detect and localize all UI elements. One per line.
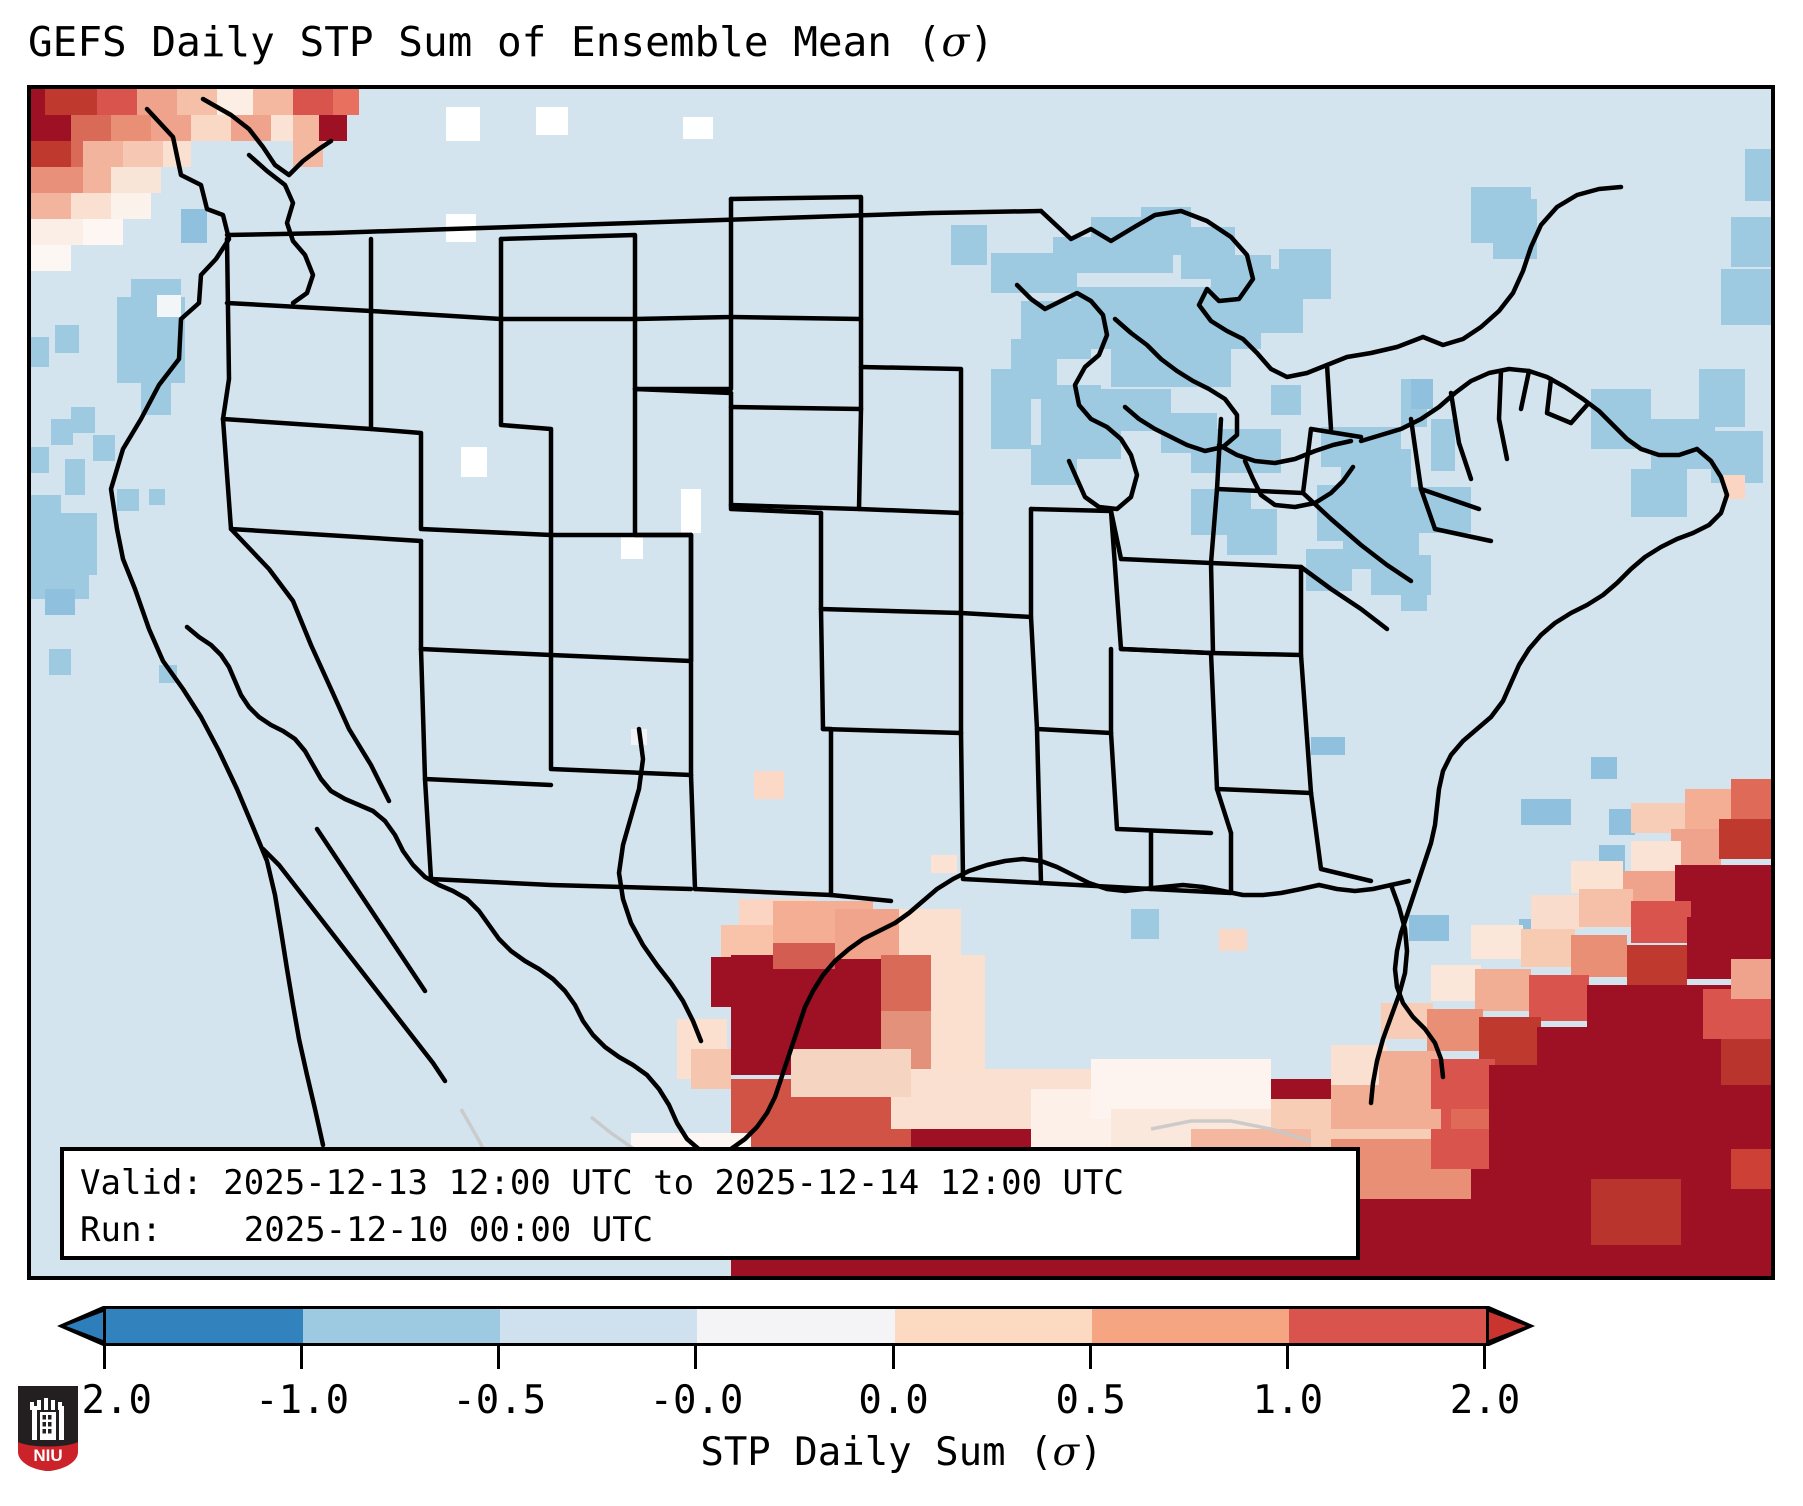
colorbar-tick-label-1: -1.0 [255, 1378, 349, 1423]
page-title: GEFS Daily STP Sum of Ensemble Mean (σ) [28, 18, 994, 66]
colorbar-tick-label-6: 1.0 [1253, 1378, 1323, 1423]
colorbar-tick-6 [1286, 1344, 1289, 1369]
colorbar-tick-label-7: 2.0 [1450, 1378, 1520, 1423]
colorbar-tick-5 [1089, 1344, 1092, 1369]
colorbar-band-5 [1092, 1309, 1289, 1343]
map-panel[interactable] [27, 85, 1775, 1280]
colorbar-tick-0 [103, 1344, 106, 1369]
valid-time-line: Valid: 2025-12-13 12:00 UTC to 2025-12-1… [80, 1160, 1340, 1207]
page-title-suffix: ) [969, 18, 994, 66]
colorbar-tick-2 [497, 1344, 500, 1369]
colorbar-band-1 [303, 1309, 500, 1343]
colorbar-extend-left-fill [66, 1312, 103, 1340]
niu-logo: NIU [14, 1382, 82, 1474]
run-time-line: Run: 2025-12-10 00:00 UTC [80, 1207, 1340, 1254]
colorbar-gradient[interactable] [103, 1306, 1489, 1346]
colorbar-label-suffix: ) [1079, 1430, 1102, 1475]
colorbar-tick-label-2: -0.5 [452, 1378, 546, 1423]
colorbar-tick-label-4: 0.0 [858, 1378, 928, 1423]
colorbar-band-6 [1289, 1309, 1486, 1343]
colorbar-container[interactable] [0, 1290, 1803, 1360]
forecast-info-box: Valid: 2025-12-13 12:00 UTC to 2025-12-1… [60, 1147, 1360, 1260]
colorbar-band-0 [106, 1309, 303, 1343]
sigma-symbol: σ [941, 18, 969, 66]
colorbar-extend-right-fill [1489, 1312, 1526, 1340]
colorbar-label-prefix: STP Daily Sum ( [700, 1430, 1052, 1475]
colorbar-sigma-icon: σ [1053, 1430, 1080, 1475]
colorbar-tick-4 [892, 1344, 895, 1369]
colorbar-tick-3 [694, 1344, 697, 1369]
colorbar-band-2 [500, 1309, 697, 1343]
colorbar-tick-label-3: -0.0 [649, 1378, 743, 1423]
colorbar-axis-label: STP Daily Sum (σ) [0, 1430, 1803, 1475]
colorbar-band-4 [895, 1309, 1092, 1343]
colorbar-band-3 [697, 1309, 894, 1343]
map-canvas [31, 89, 1771, 1276]
colorbar-tick-label-5: 0.5 [1055, 1378, 1125, 1423]
colorbar-tick-7 [1483, 1344, 1486, 1369]
colorbar-tick-1 [300, 1344, 303, 1369]
page-title-text: GEFS Daily STP Sum of Ensemble Mean ( [28, 18, 941, 66]
niu-banner-text: NIU [33, 1446, 62, 1465]
